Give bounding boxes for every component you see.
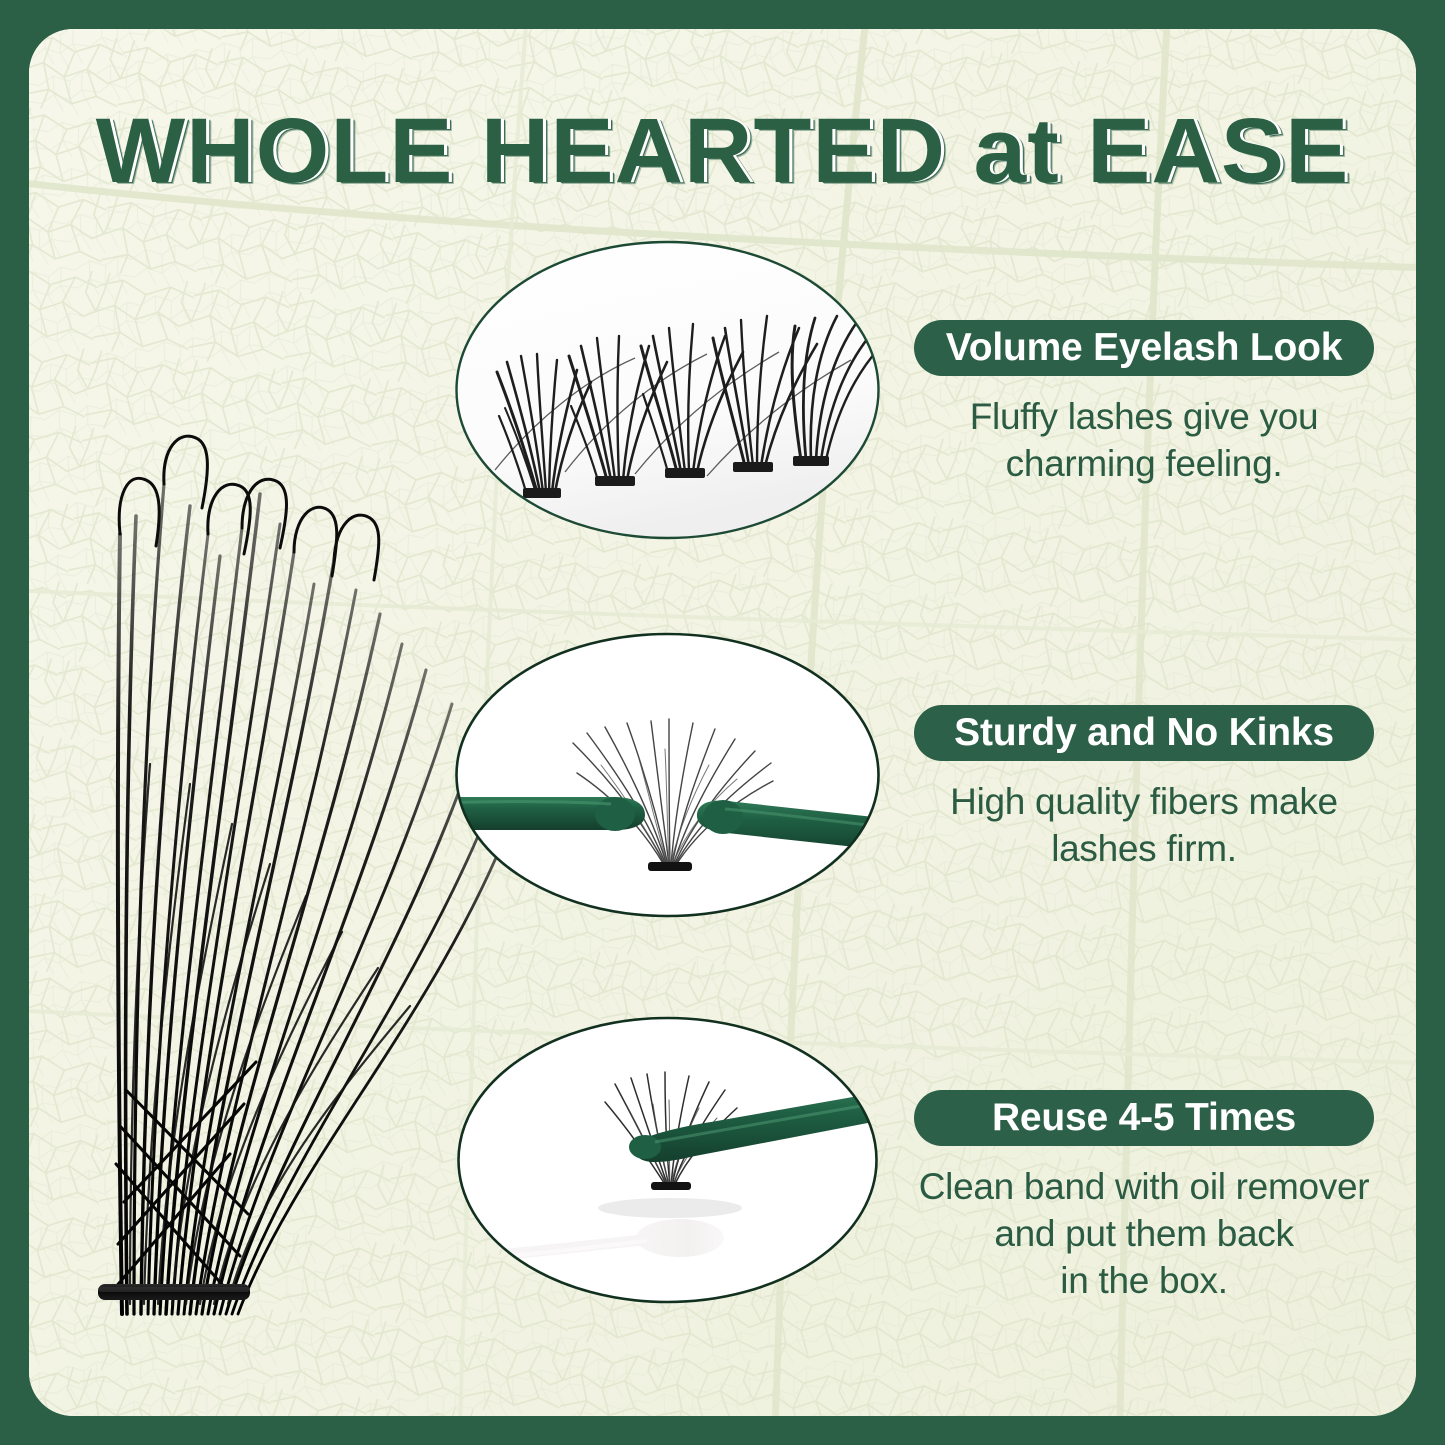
feature-description: High quality fibers make lashes firm.: [889, 778, 1399, 872]
feature-row: Volume Eyelash Look Fluffy lashes give y…: [29, 240, 1416, 540]
feature-description-line: High quality fibers make: [889, 778, 1399, 825]
feature-badge: Volume Eyelash Look: [914, 320, 1374, 376]
product-infographic: WHOLE HEARTED at EASE: [0, 0, 1445, 1445]
tweezers-holding-lash-photo: [455, 625, 880, 925]
feature-text-block: Volume Eyelash Look Fluffy lashes give y…: [889, 320, 1399, 487]
content-panel: WHOLE HEARTED at EASE: [29, 29, 1416, 1416]
feature-description: Fluffy lashes give you charming feeling.: [889, 393, 1399, 487]
feature-description-line: in the box.: [889, 1257, 1399, 1304]
feature-description-line: and put them back: [889, 1210, 1399, 1257]
feature-text-block: Sturdy and No Kinks High quality fibers …: [889, 705, 1399, 872]
feature-badge: Reuse 4-5 Times: [914, 1090, 1374, 1146]
page-title: WHOLE HEARTED at EASE: [29, 103, 1416, 199]
feature-description-line: Fluffy lashes give you: [889, 393, 1399, 440]
feature-description: Clean band with oil remover and put them…: [889, 1163, 1399, 1304]
feature-description-line: Clean band with oil remover: [889, 1163, 1399, 1210]
feature-badge: Sturdy and No Kinks: [914, 705, 1374, 761]
tweezers-lash-swab-photo: [455, 1010, 880, 1310]
lash-segments-row-photo: [455, 240, 880, 540]
feature-text-block: Reuse 4-5 Times Clean band with oil remo…: [889, 1090, 1399, 1304]
feature-description-line: lashes firm.: [889, 825, 1399, 872]
feature-row: Sturdy and No Kinks High quality fibers …: [29, 625, 1416, 925]
feature-row: Reuse 4-5 Times Clean band with oil remo…: [29, 1010, 1416, 1310]
feature-description-line: charming feeling.: [889, 440, 1399, 487]
